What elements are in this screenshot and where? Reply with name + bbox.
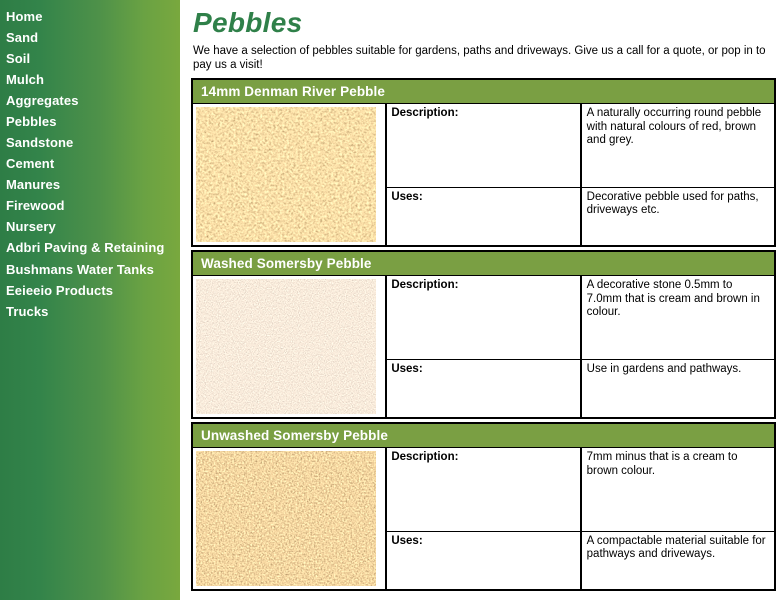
sidebar-item-sand[interactable]: Sand [6,27,180,48]
uses-label: Uses: [386,531,580,590]
sidebar-item-home[interactable]: Home [6,6,180,27]
product-image-cell-denman-river [192,104,386,247]
sidebar-item-manures[interactable]: Manures [6,174,180,195]
uses-label: Uses: [386,187,580,246]
sidebar-item-nursery[interactable]: Nursery [6,216,180,237]
sidebar-item-soil[interactable]: Soil [6,48,180,69]
sidebar-item-aggregates[interactable]: Aggregates [6,90,180,111]
product-title-unwashed-somersby: Unwashed Somersby Pebble [192,423,775,448]
page-root: Home Sand Soil Mulch Aggregates Pebbles … [0,0,778,600]
sidebar-item-mulch[interactable]: Mulch [6,69,180,90]
page-title: Pebbles [193,6,778,40]
sidebar-item-firewood[interactable]: Firewood [6,195,180,216]
sidebar-item-trucks[interactable]: Trucks [6,301,180,322]
uses-text-denman-river: Decorative pebble used for paths, drivew… [581,187,775,246]
product-table-unwashed-somersby: Unwashed Somersby Pebble [191,422,776,591]
product-table-denman-river: 14mm Denman River Pebble [191,78,776,247]
description-row: Description: A decorative stone 0.5mm to… [192,276,775,360]
description-label: Description: [386,276,580,360]
description-text-denman-river: A naturally occurring round pebble with … [581,104,775,188]
description-text-unwashed-somersby: 7mm minus that is a cream to brown colou… [581,448,775,532]
uses-text-washed-somersby: Use in gardens and pathways. [581,359,775,418]
sidebar-nav: Home Sand Soil Mulch Aggregates Pebbles … [0,0,180,600]
sidebar-item-eeieeio-products[interactable]: Eeieeio Products [6,280,180,301]
pebble-texture-washed-somersby-icon [196,279,376,414]
pebble-texture-denman-river-icon [196,107,376,242]
uses-label: Uses: [386,359,580,418]
sidebar-item-adbri-paving-retaining[interactable]: Adbri Paving & Retaining [6,237,180,259]
product-header-row: Unwashed Somersby Pebble [192,423,775,448]
description-label: Description: [386,104,580,188]
pebble-texture-unwashed-somersby-icon [196,451,376,586]
product-title-denman-river: 14mm Denman River Pebble [192,79,775,104]
product-table-washed-somersby: Washed Somersby Pebble [191,250,776,419]
sidebar-item-sandstone[interactable]: Sandstone [6,132,180,153]
product-image-cell-washed-somersby [192,276,386,419]
product-header-row: Washed Somersby Pebble [192,251,775,276]
intro-paragraph: We have a selection of pebbles suitable … [193,45,769,72]
description-text-washed-somersby: A decorative stone 0.5mm to 7.0mm that i… [581,276,775,360]
product-image-cell-unwashed-somersby [192,448,386,591]
sidebar-item-cement[interactable]: Cement [6,153,180,174]
main-content: Pebbles We have a selection of pebbles s… [189,0,778,600]
sidebar-item-bushmans-water-tanks[interactable]: Bushmans Water Tanks [6,259,180,280]
product-title-washed-somersby: Washed Somersby Pebble [192,251,775,276]
sidebar-item-pebbles[interactable]: Pebbles [6,111,180,132]
description-row: Description: 7mm minus that is a cream t… [192,448,775,532]
product-header-row: 14mm Denman River Pebble [192,79,775,104]
description-row: Description: A naturally occurring round… [192,104,775,188]
description-label: Description: [386,448,580,532]
uses-text-unwashed-somersby: A compactable material suitable for path… [581,531,775,590]
